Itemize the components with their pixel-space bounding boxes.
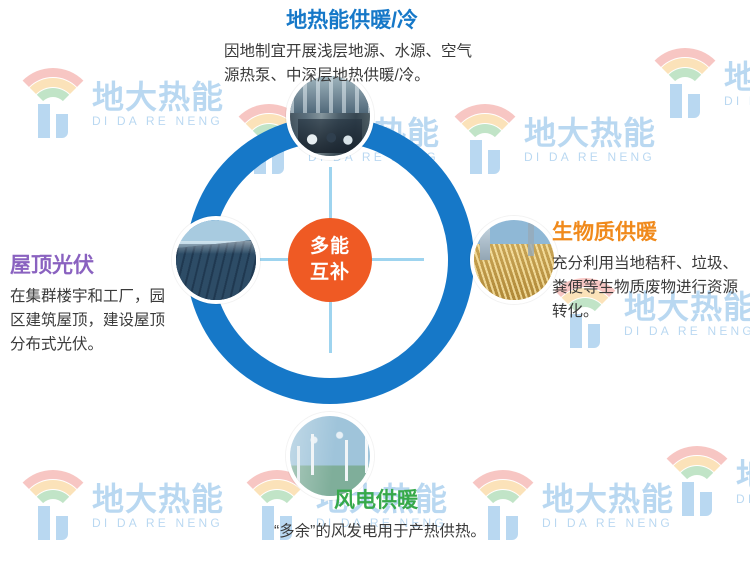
label-solar-title: 屋顶光伏 bbox=[10, 253, 180, 278]
watermark-cn-text: 地大热能 bbox=[736, 450, 750, 496]
label-geothermal: 地热能供暖/冷 因地制宜开展浅层地源、水源、空气源热泵、中深层地热供暖/冷。 bbox=[202, 8, 502, 88]
biomass-straw-photo[interactable] bbox=[470, 216, 558, 304]
watermark-logo: 地大热能 DI DA RE NENG bbox=[640, 40, 750, 155]
label-solar-body: 在集群楼宇和工厂，园区建筑屋顶，建设屋顶分布式光伏。 bbox=[10, 285, 180, 357]
center-hub-line2: 互补 bbox=[310, 260, 350, 286]
watermark-cn-text: 地大热能 bbox=[524, 108, 656, 154]
didareneng-logo-icon bbox=[8, 60, 84, 136]
watermark-en-text: DI DA RE NENG bbox=[736, 492, 750, 506]
infographic-canvas: 地大热能 DI DA RE NENG 地大热能 DI DA RE NENG 地大… bbox=[0, 0, 750, 582]
rooftop-solar-image bbox=[176, 220, 256, 300]
watermark-en-text: DI DA RE NENG bbox=[542, 516, 673, 530]
watermark-en-text: DI DA RE NENG bbox=[624, 324, 750, 338]
watermark-logo: 地大热能 DI DA RE NENG bbox=[652, 438, 750, 553]
label-wind: 风电供暖 “多余”的风发电用于产热供热。 bbox=[246, 488, 506, 544]
label-wind-body: “多余”的风发电用于产热供热。 bbox=[274, 520, 490, 544]
label-wind-title: 风电供暖 bbox=[246, 488, 506, 513]
watermark-en-text: DI DA RE NENG bbox=[524, 150, 655, 164]
watermark-en-text: DI DA RE NENG bbox=[92, 516, 223, 530]
label-geothermal-body: 因地制宜开展浅层地源、水源、空气源热泵、中深层地热供暖/冷。 bbox=[224, 40, 482, 88]
watermark-en-text: DI DA RE NENG bbox=[92, 114, 223, 128]
watermark-en-text: DI DA RE NENG bbox=[724, 94, 750, 108]
label-biomass: 生物质供暖 充分利用当地秸秆、垃圾、粪便等生物质废物进行资源转化。 bbox=[552, 220, 748, 324]
wind-turbines-photo[interactable] bbox=[286, 412, 374, 500]
label-geothermal-title: 地热能供暖/冷 bbox=[202, 8, 502, 33]
center-hub-line1: 多能 bbox=[310, 234, 350, 260]
watermark-cn-text: 地大热能 bbox=[724, 52, 750, 98]
watermark-cn-text: 地大热能 bbox=[92, 474, 224, 520]
watermark-logo: 地大热能 DI DA RE NENG bbox=[440, 96, 670, 211]
label-solar: 屋顶光伏 在集群楼宇和工厂，园区建筑屋顶，建设屋顶分布式光伏。 bbox=[10, 253, 180, 357]
watermark-cn-text: 地大热能 bbox=[542, 474, 674, 520]
watermark-logo: 地大热能 DI DA RE NENG bbox=[8, 462, 238, 577]
didareneng-logo-icon bbox=[440, 96, 516, 172]
label-biomass-title: 生物质供暖 bbox=[552, 220, 748, 245]
wind-turbines-image bbox=[290, 416, 370, 496]
didareneng-logo-icon bbox=[8, 462, 84, 538]
didareneng-logo-icon bbox=[640, 40, 716, 116]
biomass-straw-image bbox=[474, 220, 554, 300]
center-hub: 多能 互补 bbox=[288, 218, 372, 302]
rooftop-solar-photo[interactable] bbox=[172, 216, 260, 304]
didareneng-logo-icon bbox=[652, 438, 728, 514]
label-biomass-body: 充分利用当地秸秆、垃圾、粪便等生物质废物进行资源转化。 bbox=[552, 252, 748, 324]
